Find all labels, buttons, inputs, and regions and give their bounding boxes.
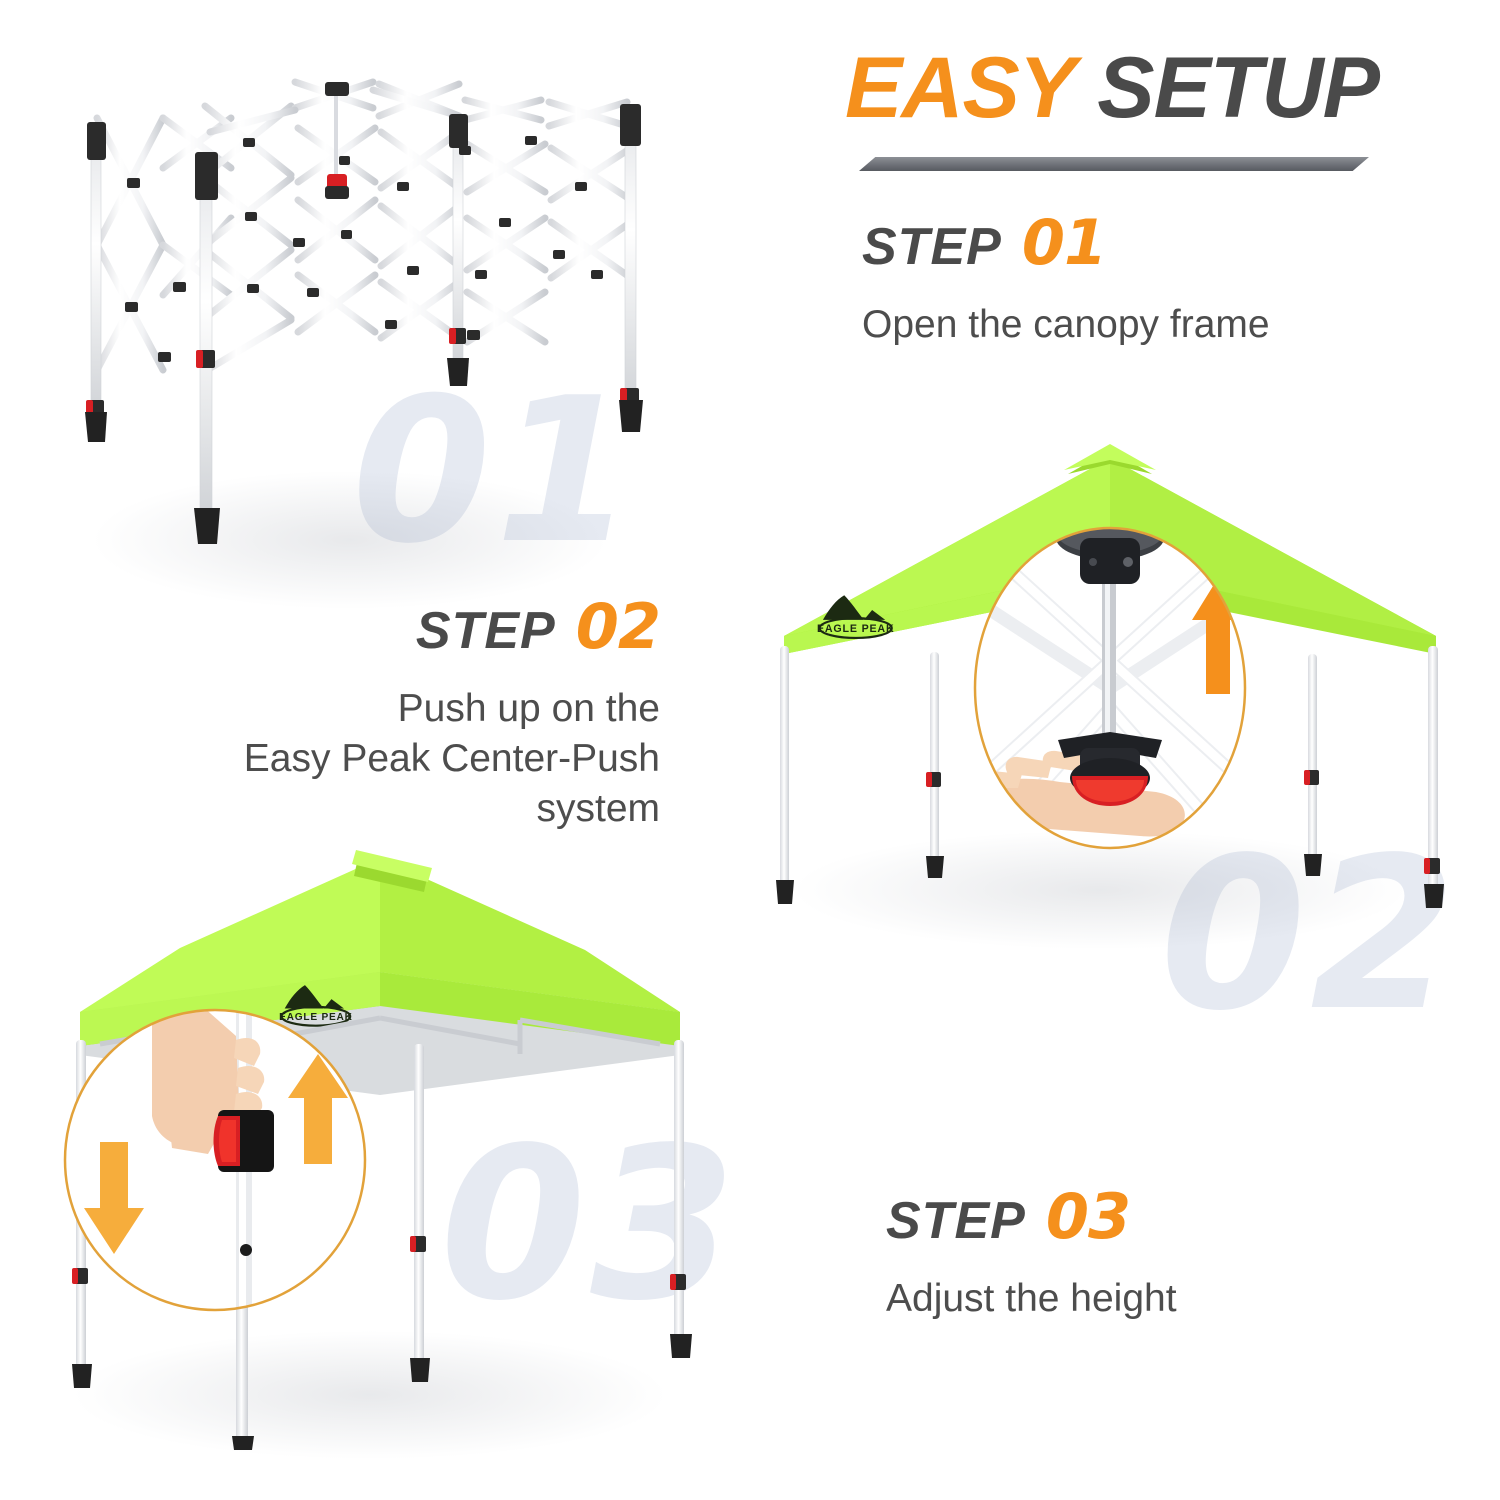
frame-peak-joint	[325, 82, 349, 96]
step-03-text-block: STEP03 Adjust the height	[886, 1186, 1446, 1324]
step-02-number: 02	[576, 590, 660, 663]
leg-height-slider	[214, 1110, 275, 1172]
canopy-frame-illustration	[55, 70, 715, 590]
step-01-label: STEP	[862, 218, 1002, 276]
step-01-number: 01	[1022, 206, 1106, 279]
leg-pin-hole	[240, 1244, 252, 1256]
brand-logo-text-03: EAGLE PEAK	[279, 1012, 353, 1023]
canopy-center-push-illustration: EAGLE PEAK	[760, 440, 1460, 920]
infographic-canvas: EASYSETUP 01 02 03 STEP01 Open the canop…	[0, 0, 1500, 1500]
step-02-text-block: STEP02 Push up on the Easy Peak Center-P…	[120, 596, 660, 834]
frame-scissor-bars	[97, 82, 631, 370]
step-02-description: Push up on the Easy Peak Center-Push sys…	[120, 684, 660, 834]
title-underline-shape	[859, 157, 1369, 171]
title-setup: SETUP	[1097, 40, 1379, 136]
title-easy: EASY	[845, 40, 1075, 136]
step-03-description: Adjust the height	[886, 1274, 1446, 1324]
frame-height-sliders	[86, 328, 639, 416]
page-header: EASYSETUP	[845, 45, 1465, 205]
brand-logo-text: EAGLE PEAK	[817, 623, 894, 635]
step-03-number: 03	[1046, 1180, 1130, 1253]
canopy-feet-03	[72, 1334, 692, 1450]
page-title: EASYSETUP	[845, 45, 1465, 131]
step-02-label: STEP	[416, 602, 556, 660]
frame-feet	[85, 358, 643, 544]
canopy-height-adjust-illustration: EAGLE PEAK	[40, 830, 720, 1450]
center-push-hub-black	[325, 186, 349, 199]
canopy-feet	[776, 854, 1444, 908]
step-01-text-block: STEP01 Open the canopy frame	[862, 212, 1462, 350]
step-03-heading: STEP03	[886, 1186, 1446, 1248]
step-01-heading: STEP01	[862, 212, 1462, 274]
step-01-description: Open the canopy frame	[862, 300, 1462, 350]
title-underline-bar	[859, 157, 1369, 171]
step-03-label: STEP	[886, 1192, 1026, 1250]
